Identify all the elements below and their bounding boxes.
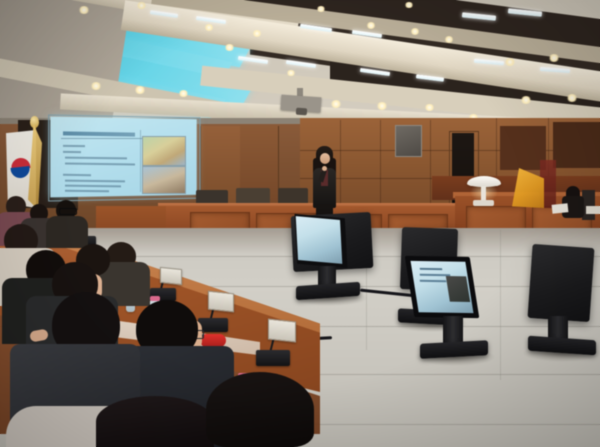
wall-recess [553,122,600,168]
name-plate [208,291,234,313]
monitor-screen[interactable] [296,216,343,264]
recessed-downlight [178,90,189,97]
lamp-base [473,200,494,206]
audience-head-foreground [206,372,314,447]
slide-image-photo [142,166,186,194]
presenter-hand [322,166,327,171]
monitor-screen-content-line [420,268,443,270]
recessed-downlight [252,30,262,37]
slide-text-line [63,145,85,147]
recessed-downlight [330,100,342,108]
recessed-downlight [548,54,560,62]
recessed-downlight [136,2,147,9]
recessed-downlight [204,24,214,31]
recessed-downlight [520,96,532,104]
presenter-face [320,153,330,164]
recessed-downlight [444,36,454,43]
recessed-downlight [134,86,146,94]
recessed-downlight [78,6,90,14]
recessed-downlight [424,104,435,111]
eyeglasses-icon [59,208,77,215]
recessed-downlight [366,22,376,29]
recessed-downlight [566,94,578,102]
audience-head-foreground [96,396,214,447]
slide-column-divider [140,130,141,192]
floor-tile-seam [500,230,501,380]
projector-lens-icon [296,108,307,116]
monitor-far-right[interactable] [527,244,594,322]
monitor-stand-column [443,316,463,344]
recessed-downlight [316,6,326,12]
document-paper [586,206,600,214]
recessed-downlight [224,44,235,51]
name-plate [160,267,182,285]
recessed-downlight [286,70,296,76]
recessed-downlight [410,28,420,35]
slide-image-map [142,136,186,166]
monitor-screen-image [446,276,470,302]
seminar-room-photograph [0,0,600,447]
name-plate [268,319,296,343]
slide-text-line [63,151,81,153]
audience-member [46,216,88,248]
slide-text-line [63,174,91,176]
wall-display-panel [395,125,422,157]
document-paper [552,203,569,214]
recessed-downlight [90,82,102,90]
recessed-downlight [504,58,516,66]
recessed-downlight [376,102,388,110]
recessed-downlight [404,2,414,8]
conference-microphone[interactable] [256,350,290,366]
